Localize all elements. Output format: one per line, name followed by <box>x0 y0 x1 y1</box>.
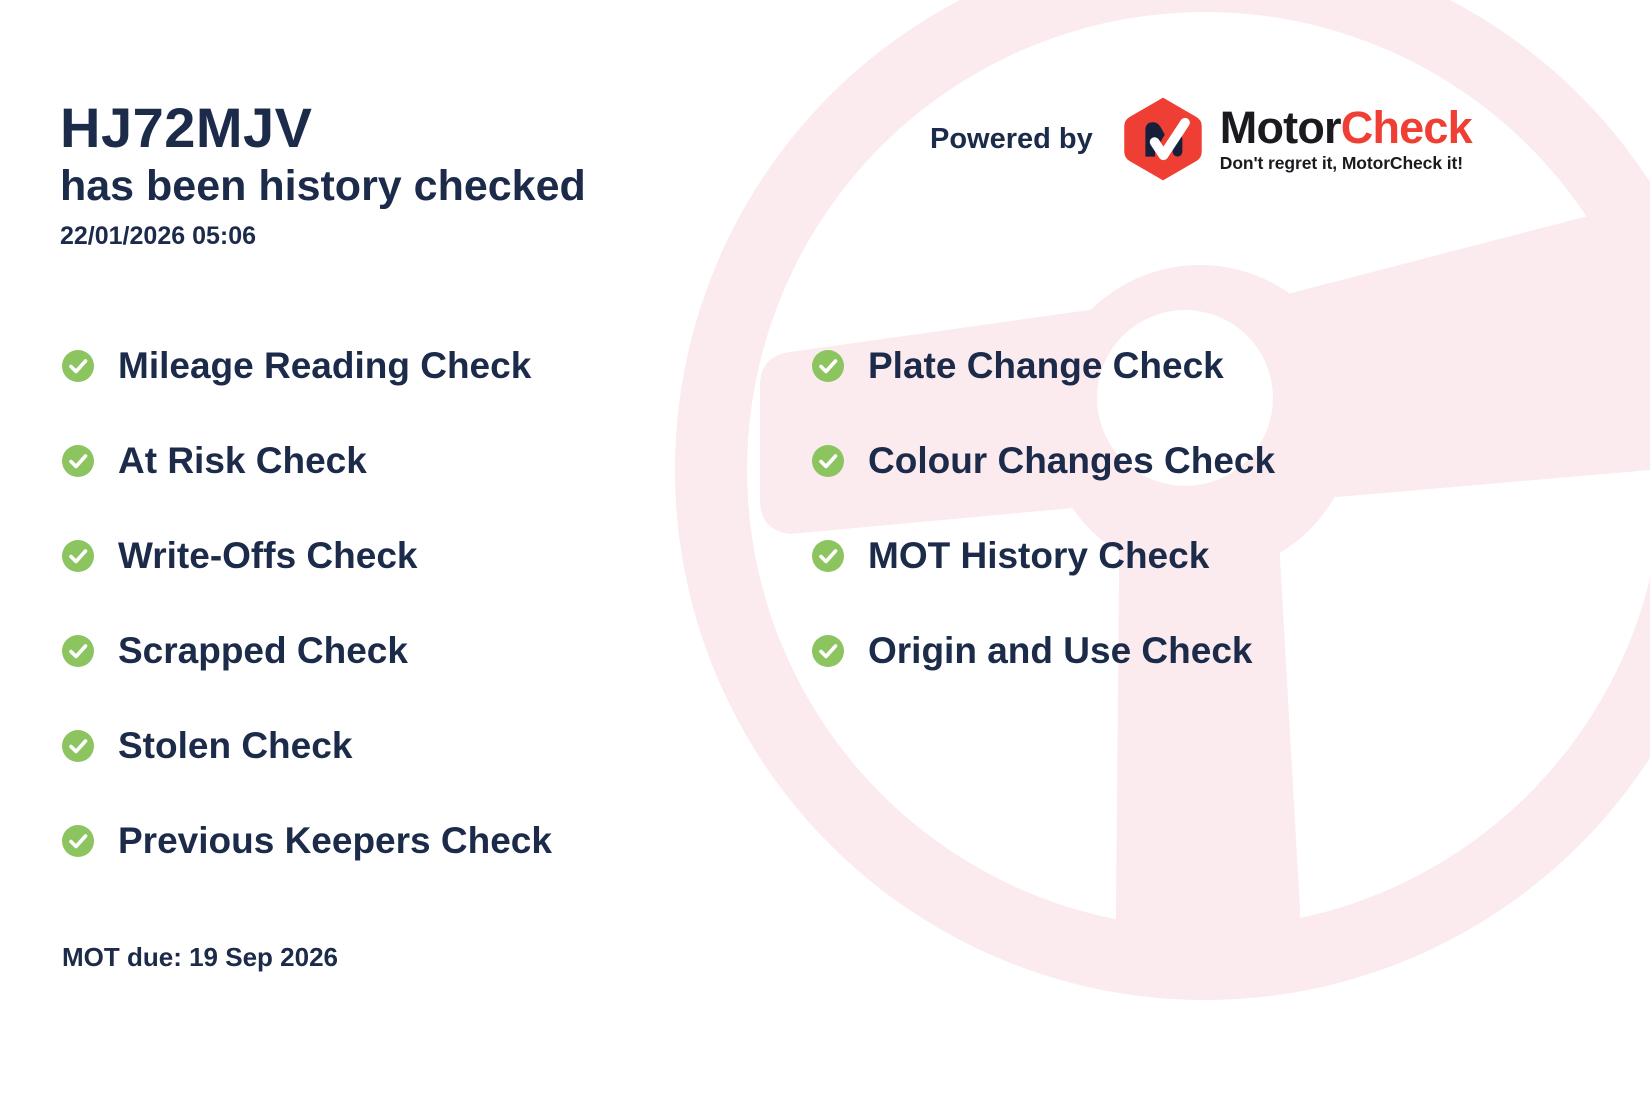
list-item[interactable]: MOT History Check <box>812 508 1275 603</box>
powered-by-block: Powered by MotorCheck Don't regret it, M… <box>930 95 1472 183</box>
list-item[interactable]: Stolen Check <box>62 698 552 793</box>
check-label: At Risk Check <box>118 442 367 479</box>
list-item[interactable]: At Risk Check <box>62 413 552 508</box>
green-check-circle-icon <box>62 825 94 857</box>
check-label: Colour Changes Check <box>868 442 1275 479</box>
green-check-circle-icon <box>62 730 94 762</box>
green-check-circle-icon <box>62 540 94 572</box>
list-item[interactable]: Scrapped Check <box>62 603 552 698</box>
vehicle-registration: HJ72MJV <box>60 98 586 158</box>
checks-right-column: Plate Change Check Colour Changes Check … <box>812 318 1275 698</box>
wordmark-motor: Motor <box>1220 102 1341 153</box>
green-check-circle-icon <box>812 445 844 477</box>
green-check-circle-icon <box>62 635 94 667</box>
vehicle-history-check-card: HJ72MJV has been history checked 22/01/2… <box>0 0 1650 1100</box>
checks-left-column: Mileage Reading Check At Risk Check Writ… <box>62 318 552 888</box>
list-item[interactable]: Write-Offs Check <box>62 508 552 603</box>
check-label: Previous Keepers Check <box>118 822 552 859</box>
wordmark-check: Check <box>1341 102 1472 153</box>
check-label: MOT History Check <box>868 537 1209 574</box>
check-label: Mileage Reading Check <box>118 347 531 384</box>
mot-due-text: MOT due: 19 Sep 2026 <box>62 942 338 973</box>
check-timestamp: 22/01/2026 05:06 <box>60 222 586 251</box>
motorcheck-logo[interactable]: MotorCheck Don't regret it, MotorCheck i… <box>1119 95 1472 183</box>
list-item[interactable]: Previous Keepers Check <box>62 793 552 888</box>
list-item[interactable]: Colour Changes Check <box>812 413 1275 508</box>
list-item[interactable]: Origin and Use Check <box>812 603 1275 698</box>
powered-by-label: Powered by <box>930 123 1093 156</box>
list-item[interactable]: Plate Change Check <box>812 318 1275 413</box>
status-headline: has been history checked <box>60 160 586 214</box>
green-check-circle-icon <box>812 540 844 572</box>
green-check-circle-icon <box>62 445 94 477</box>
check-label: Write-Offs Check <box>118 537 418 574</box>
motorcheck-hexagon-logo-icon <box>1119 95 1207 183</box>
green-check-circle-icon <box>812 635 844 667</box>
motorcheck-tagline: Don't regret it, MotorCheck it! <box>1220 155 1472 173</box>
check-label: Scrapped Check <box>118 632 408 669</box>
check-label: Origin and Use Check <box>868 632 1253 669</box>
list-item[interactable]: Mileage Reading Check <box>62 318 552 413</box>
check-label: Stolen Check <box>118 727 352 764</box>
motorcheck-wordmark: MotorCheck <box>1220 105 1472 150</box>
green-check-circle-icon <box>62 350 94 382</box>
green-check-circle-icon <box>812 350 844 382</box>
check-label: Plate Change Check <box>868 347 1224 384</box>
header-block: HJ72MJV has been history checked 22/01/2… <box>60 98 586 251</box>
